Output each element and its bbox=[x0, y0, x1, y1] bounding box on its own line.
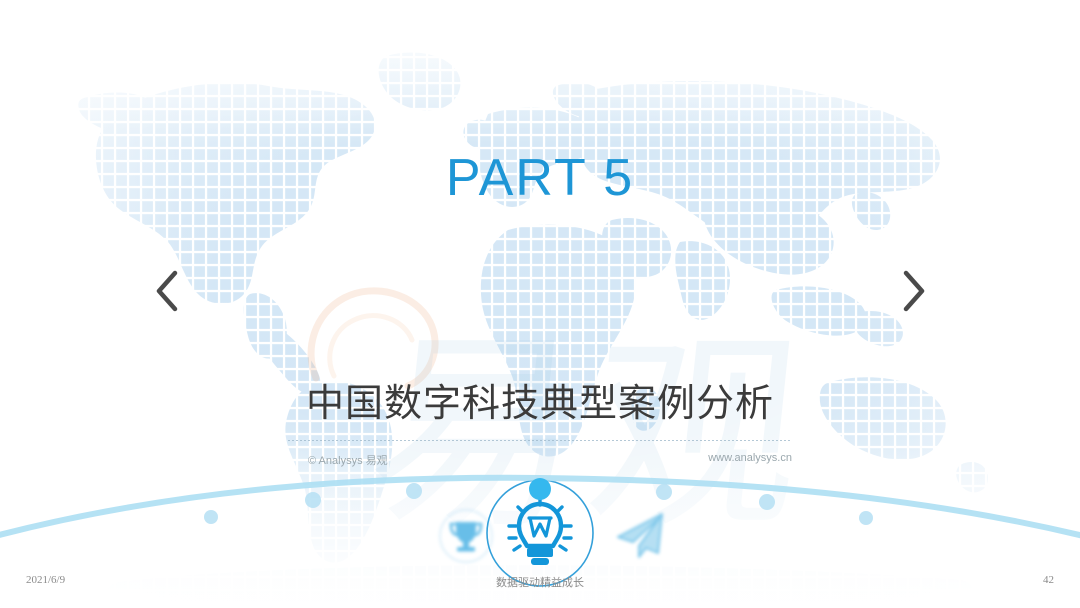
arc-dot[interactable] bbox=[305, 492, 321, 508]
arc-dot[interactable] bbox=[406, 483, 422, 499]
part-label: PART 5 bbox=[0, 148, 1080, 208]
footer-page-number: 42 bbox=[1043, 574, 1054, 586]
slide-footer: 2021/6/9 数据驱动精益成长 42 bbox=[0, 574, 1080, 590]
progress-arc-timeline[interactable] bbox=[0, 462, 1080, 542]
presentation-slide: 易观 PART 5 bbox=[0, 0, 1080, 608]
footer-slogan: 数据驱动精益成长 bbox=[0, 574, 1080, 590]
arc-dot[interactable] bbox=[204, 510, 218, 524]
divider-dotted-rule bbox=[288, 440, 792, 441]
arc-dot-active[interactable] bbox=[529, 478, 551, 500]
arc-dot[interactable] bbox=[859, 511, 873, 525]
slide-title: 中国数字科技典型案例分析 bbox=[0, 372, 1080, 427]
arc-dot[interactable] bbox=[656, 484, 672, 500]
icon-carousel bbox=[0, 240, 1080, 350]
arc-dot[interactable] bbox=[759, 494, 775, 510]
